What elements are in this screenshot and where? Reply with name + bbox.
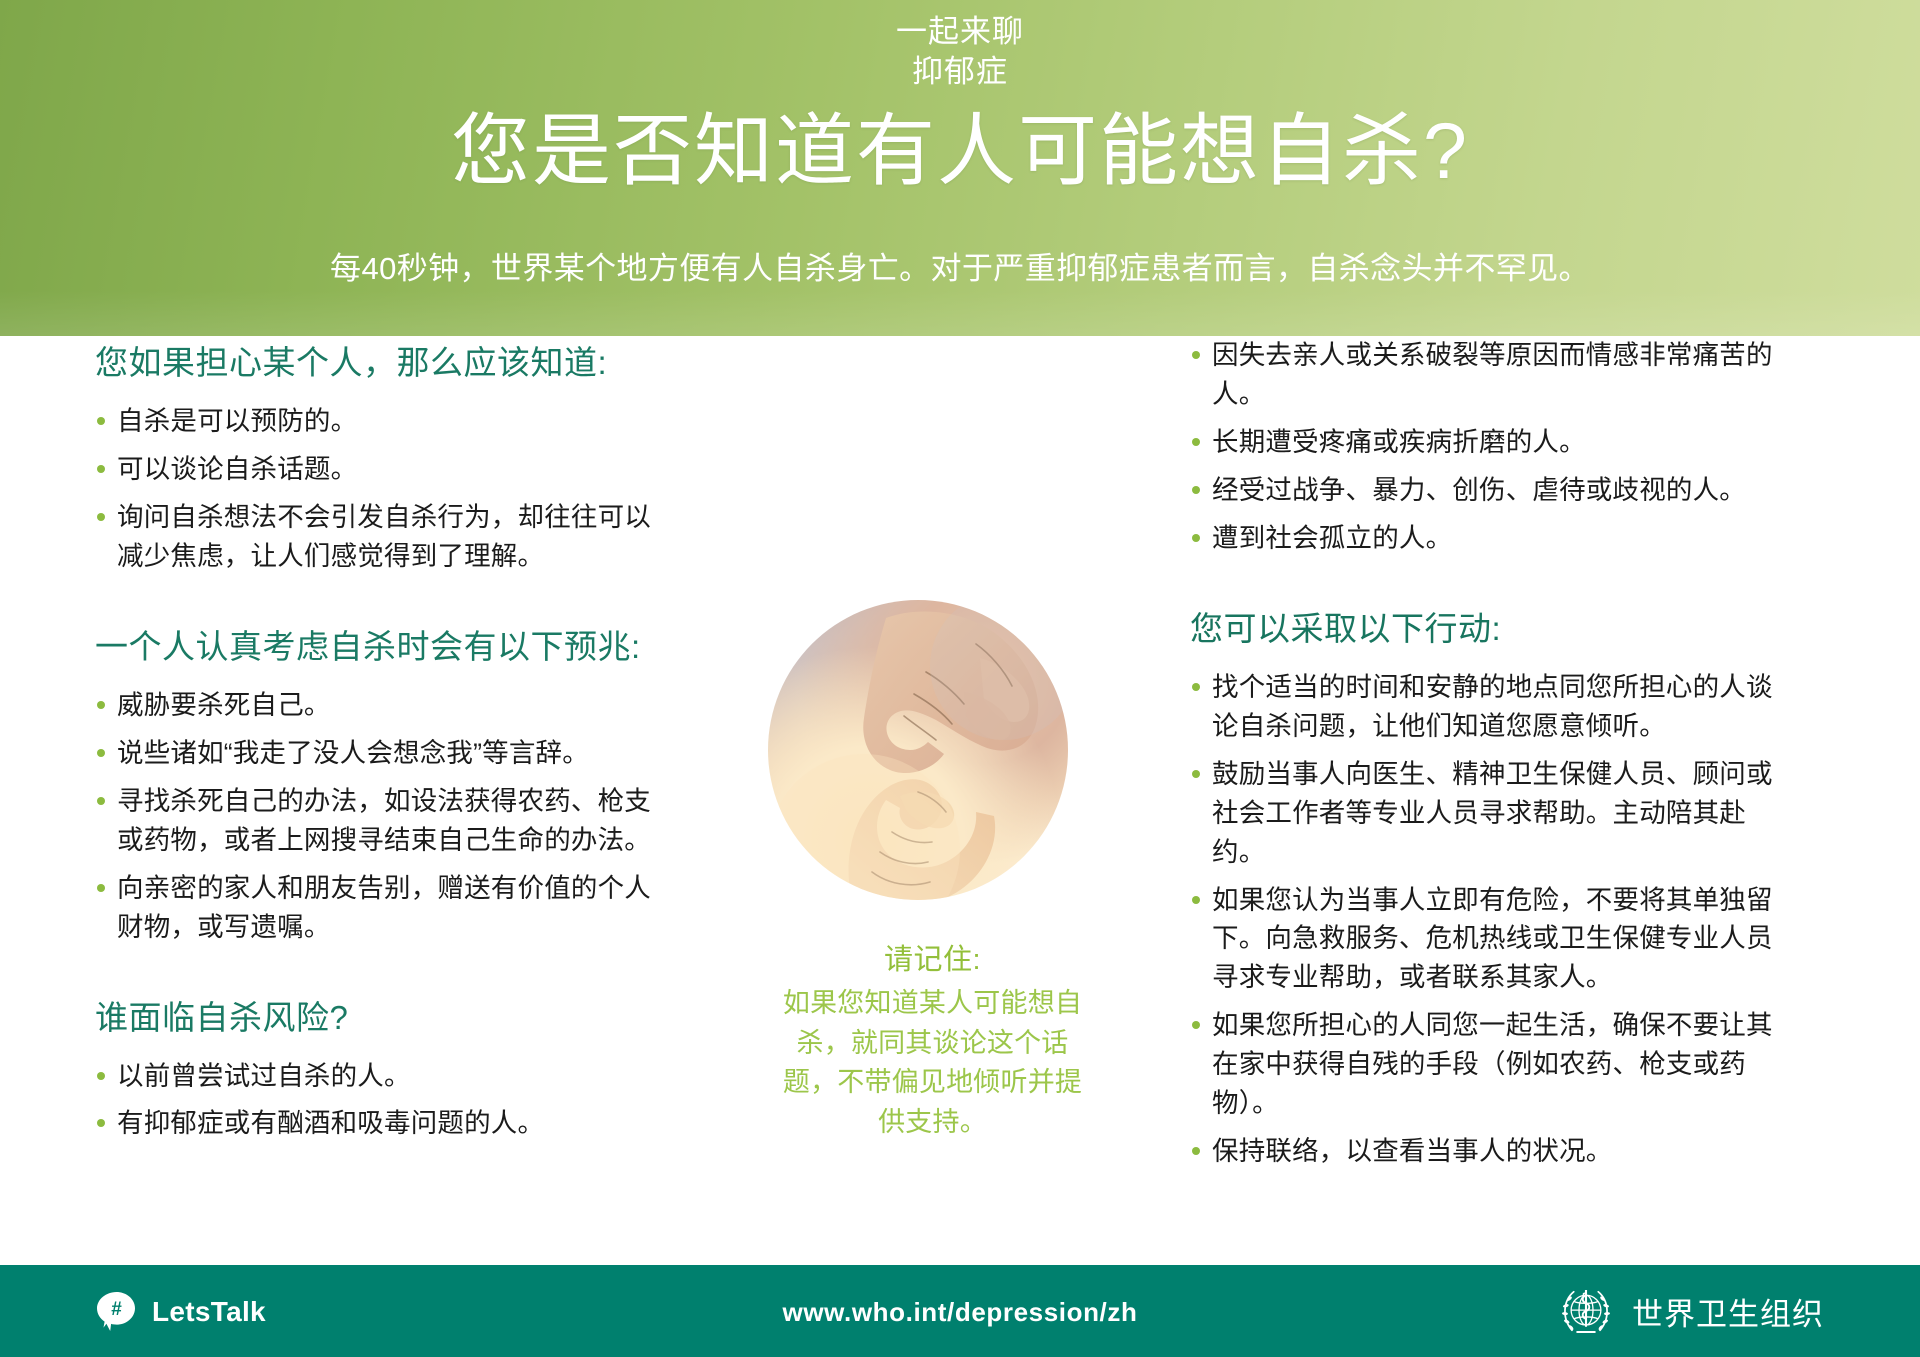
list-item: 有抑郁症或有酗酒和吸毒问题的人。	[95, 1104, 655, 1143]
section-if-you-are-worried: 您如果担心某个人，那么应该知道: 自杀是可以预防的。 可以谈论自杀话题。 询问自…	[95, 336, 655, 576]
poster-header: 一起来聊 抑郁症 您是否知道有人可能想自杀? 每40秒钟，世界某个地方便有人自杀…	[0, 0, 1920, 336]
who-logo-lockup: 世界卫生组织	[1558, 1283, 1824, 1339]
list-item: 自杀是可以预防的。	[95, 402, 655, 441]
hands-circle-image	[768, 600, 1068, 900]
list-item: 长期遭受疼痛或疾病折磨的人。	[1190, 423, 1790, 462]
illustration-hands	[768, 600, 1068, 900]
campaign-brand: 一起来聊 抑郁症	[0, 12, 1920, 91]
list-item: 保持联络，以查看当事人的状况。	[1190, 1132, 1790, 1171]
bullet-list: 找个适当的时间和安静的地点同您所担心的人谈论自杀问题，让他们知道您愿意倾听。 鼓…	[1190, 668, 1790, 1171]
list-item: 以前曾尝试过自杀的人。	[95, 1057, 655, 1096]
right-column: 因失去亲人或关系破裂等原因而情感非常痛苦的人。 长期遭受疼痛或疾病折磨的人。 经…	[1190, 336, 1790, 1215]
list-item: 经受过战争、暴力、创伤、虐待或歧视的人。	[1190, 471, 1790, 510]
page-subtitle: 每40秒钟，世界某个地方便有人自杀身亡。对于严重抑郁症患者而言，自杀念头并不罕见…	[0, 243, 1920, 288]
remember-callout: 请记住: 如果您知道某人可能想自杀，就同其谈论这个话题，不带偏见地倾听并提供支持…	[780, 936, 1085, 1143]
left-column: 您如果担心某个人，那么应该知道: 自杀是可以预防的。 可以谈论自杀话题。 询问自…	[95, 336, 655, 1187]
list-item: 如果您认为当事人立即有危险，不要将其单独留下。向急救服务、危机热线或卫生保健专业…	[1190, 881, 1790, 998]
page-title: 您是否知道有人可能想自杀?	[0, 108, 1920, 193]
section-heading: 谁面临自杀风险?	[95, 991, 655, 1039]
who-emblem-icon	[1558, 1283, 1614, 1339]
list-item: 因失去亲人或关系破裂等原因而情感非常痛苦的人。	[1190, 336, 1790, 414]
section-heading: 您如果担心某个人，那么应该知道:	[95, 336, 655, 384]
list-item: 如果您所担心的人同您一起生活，确保不要让其在家中获得自残的手段（例如农药、枪支或…	[1190, 1006, 1790, 1123]
poster-root: 一起来聊 抑郁症 您是否知道有人可能想自杀? 每40秒钟，世界某个地方便有人自杀…	[0, 0, 1920, 1357]
poster-footer: # LetsTalk www.who.int/depression/zh	[0, 1265, 1920, 1357]
list-item: 向亲密的家人和朋友告别，赠送有价值的个人财物，或写遗嘱。	[95, 869, 655, 947]
bullet-list: 威胁要杀死自己。 说些诸如“我走了没人会想念我”等言辞。 寻找杀死自己的办法，如…	[95, 686, 655, 947]
section-warning-signs: 一个人认真考虑自杀时会有以下预兆: 威胁要杀死自己。 说些诸如“我走了没人会想念…	[95, 620, 655, 947]
list-item: 可以谈论自杀话题。	[95, 450, 655, 489]
brand-line-1: 一起来聊	[0, 12, 1920, 52]
list-item: 说些诸如“我走了没人会想念我”等言辞。	[95, 734, 655, 773]
section-what-you-can-do: 您可以采取以下行动: 找个适当的时间和安静的地点同您所担心的人谈论自杀问题，让他…	[1190, 602, 1790, 1171]
remember-heading: 请记住:	[780, 936, 1085, 978]
list-item: 遭到社会孤立的人。	[1190, 519, 1790, 558]
remember-text: 如果您知道某人可能想自杀，就同其谈论这个话题，不带偏见地倾听并提供支持。	[780, 984, 1085, 1143]
bullet-list: 以前曾尝试过自杀的人。 有抑郁症或有酗酒和吸毒问题的人。	[95, 1057, 655, 1144]
brand-line-2: 抑郁症	[0, 52, 1920, 92]
section-heading: 您可以采取以下行动:	[1190, 602, 1790, 650]
list-item: 寻找杀死自己的办法，如设法获得农药、枪支或药物，或者上网搜寻结束自己生命的办法。	[95, 782, 655, 860]
bullet-list: 自杀是可以预防的。 可以谈论自杀话题。 询问自杀想法不会引发自杀行为，却往往可以…	[95, 402, 655, 576]
list-item: 找个适当的时间和安静的地点同您所担心的人谈论自杀问题，让他们知道您愿意倾听。	[1190, 668, 1790, 746]
who-label: 世界卫生组织	[1632, 1289, 1824, 1334]
bullet-list: 因失去亲人或关系破裂等原因而情感非常痛苦的人。 长期遭受疼痛或疾病折磨的人。 经…	[1190, 336, 1790, 558]
list-item: 鼓励当事人向医生、精神卫生保健人员、顾问或社会工作者等专业人员寻求帮助。主动陪其…	[1190, 755, 1790, 872]
section-who-is-at-risk: 谁面临自杀风险? 以前曾尝试过自杀的人。 有抑郁症或有酗酒和吸毒问题的人。	[95, 991, 655, 1144]
poster-body: 您如果担心某个人，那么应该知道: 自杀是可以预防的。 可以谈论自杀话题。 询问自…	[0, 336, 1920, 1265]
hands-drawing-icon	[768, 600, 1068, 900]
list-item: 威胁要杀死自己。	[95, 686, 655, 725]
section-heading: 一个人认真考虑自杀时会有以下预兆:	[95, 620, 655, 668]
list-item: 询问自杀想法不会引发自杀行为，却往往可以减少焦虑，让人们感觉得到了理解。	[95, 498, 655, 576]
section-at-risk-continued: 因失去亲人或关系破裂等原因而情感非常痛苦的人。 长期遭受疼痛或疾病折磨的人。 经…	[1190, 336, 1790, 558]
